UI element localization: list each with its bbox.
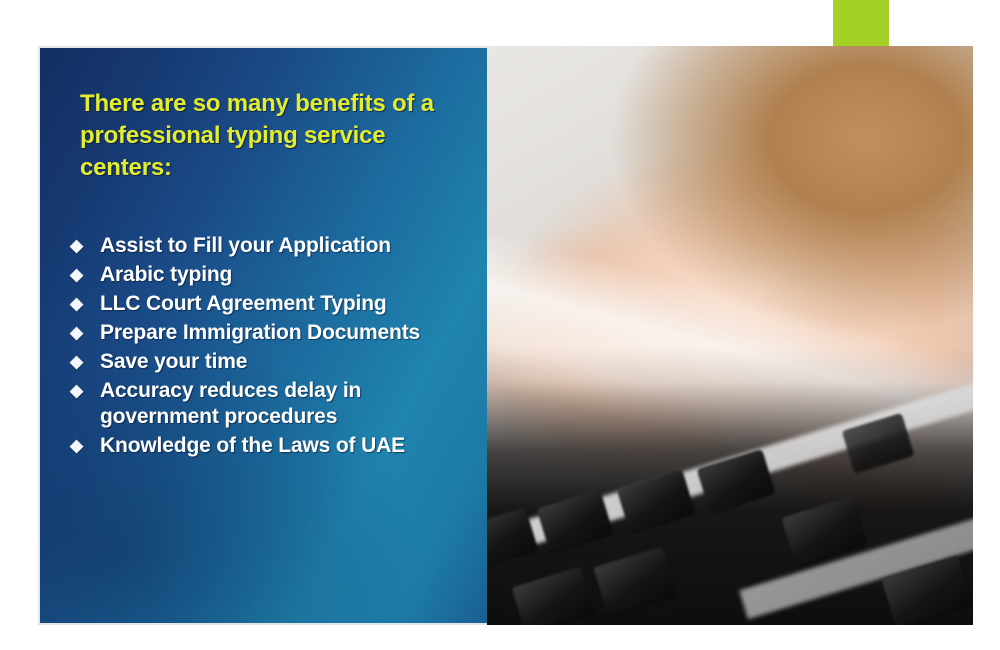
keycap bbox=[537, 489, 614, 552]
list-item: ◆ Prepare Immigration Documents bbox=[70, 320, 480, 346]
list-item: ◆ Save your time bbox=[70, 349, 480, 375]
keyboard-typing-photo bbox=[487, 46, 973, 625]
diamond-bullet-icon: ◆ bbox=[70, 349, 100, 375]
list-item-label: Accuracy reduces delay in government pro… bbox=[100, 378, 480, 430]
list-item-label: Knowledge of the Laws of UAE bbox=[100, 433, 480, 459]
diamond-bullet-icon: ◆ bbox=[70, 291, 100, 317]
keycap bbox=[512, 567, 595, 625]
benefits-list: ◆ Assist to Fill your Application ◆ Arab… bbox=[70, 233, 480, 462]
list-item: ◆ Assist to Fill your Application bbox=[70, 233, 480, 259]
slide-canvas: There are so many benefits of a professi… bbox=[0, 0, 1000, 650]
diamond-bullet-icon: ◆ bbox=[70, 262, 100, 288]
panel-heading: There are so many benefits of a professi… bbox=[80, 88, 470, 184]
list-item: ◆ Knowledge of the Laws of UAE bbox=[70, 433, 480, 459]
list-item: ◆ Arabic typing bbox=[70, 262, 480, 288]
diamond-bullet-icon: ◆ bbox=[70, 320, 100, 346]
list-item-label: Assist to Fill your Application bbox=[100, 233, 480, 259]
list-item-label: LLC Court Agreement Typing bbox=[100, 291, 480, 317]
keycap bbox=[697, 449, 775, 513]
list-item-label: Arabic typing bbox=[100, 262, 480, 288]
green-accent-bar bbox=[833, 0, 889, 46]
list-item-label: Prepare Immigration Documents bbox=[100, 320, 480, 346]
keycap bbox=[593, 547, 676, 616]
list-item: ◆ Accuracy reduces delay in government p… bbox=[70, 378, 480, 430]
diamond-bullet-icon: ◆ bbox=[70, 433, 100, 459]
list-item: ◆ LLC Court Agreement Typing bbox=[70, 291, 480, 317]
diamond-bullet-icon: ◆ bbox=[70, 233, 100, 259]
keycap bbox=[617, 469, 695, 533]
photo-image bbox=[487, 46, 973, 625]
keycap bbox=[487, 507, 538, 568]
list-item-label: Save your time bbox=[100, 349, 480, 375]
diamond-bullet-icon: ◆ bbox=[70, 378, 100, 404]
content-panel: There are so many benefits of a professi… bbox=[38, 46, 487, 625]
